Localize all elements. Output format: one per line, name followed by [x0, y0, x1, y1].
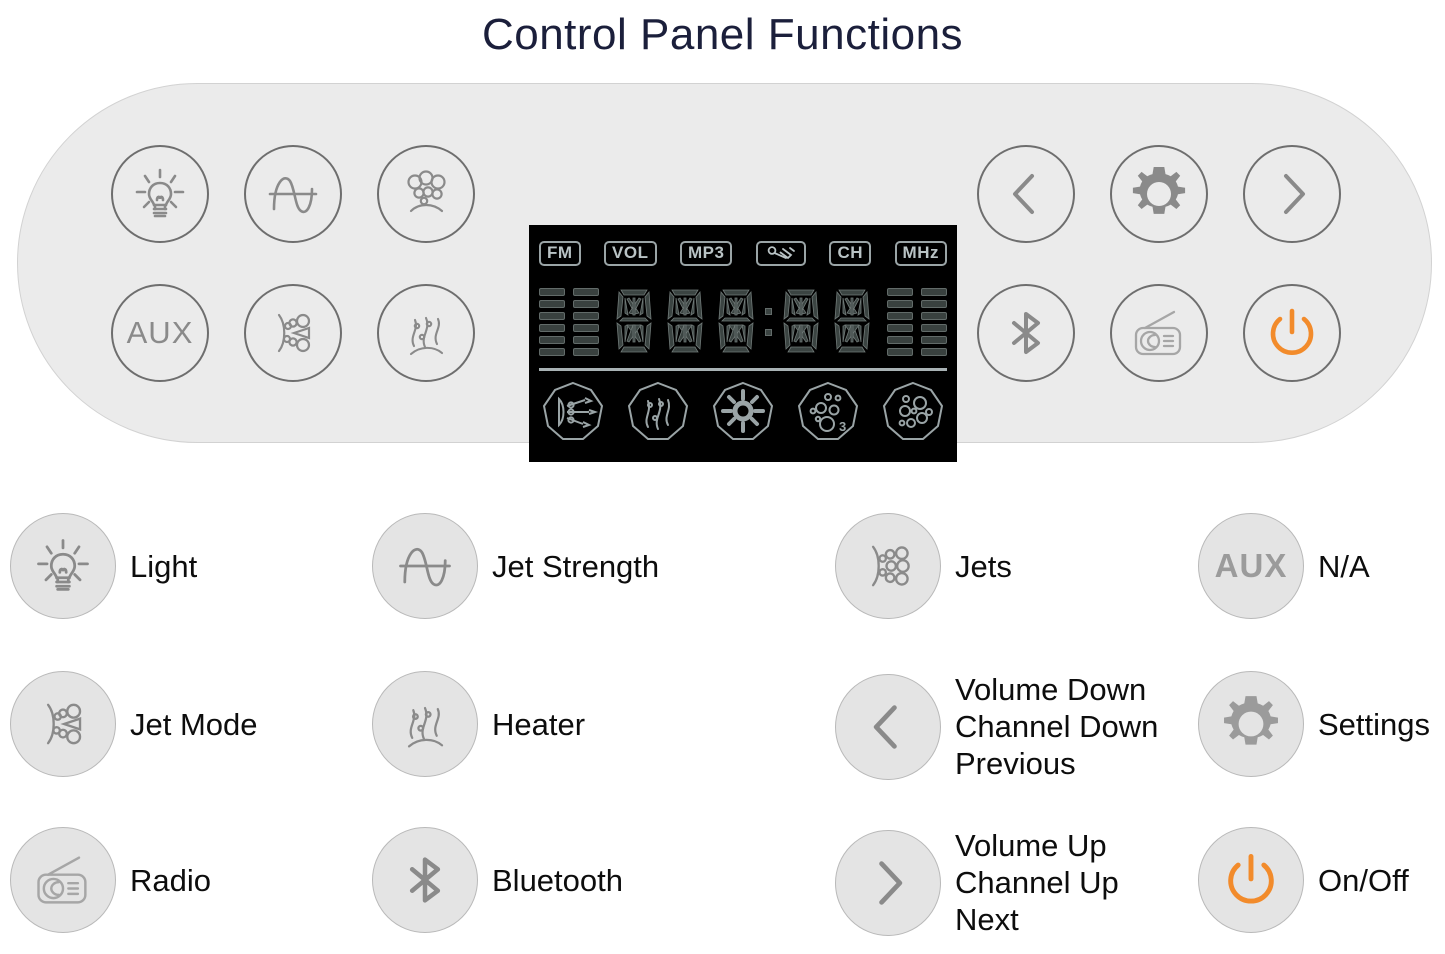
- chevron-left-icon: [835, 674, 941, 780]
- page-title: Control Panel Functions: [0, 10, 1445, 60]
- panel-button-heater[interactable]: [377, 284, 475, 382]
- legend-jets-icon: [835, 513, 941, 619]
- bar-segment: [887, 300, 913, 308]
- jet-strength-icon: [262, 163, 324, 225]
- jets-bubbles-icon: [395, 163, 457, 225]
- panel-button-bluetooth[interactable]: [977, 284, 1075, 382]
- lcd-ozone-icon: 3: [796, 380, 860, 449]
- bar-column: [539, 288, 565, 356]
- legend-label: Settings: [1318, 706, 1430, 743]
- lcd-display: FM VOL MP3 CH MHz: [529, 225, 957, 462]
- control-panel: AUX FM VOL MP3: [17, 83, 1432, 443]
- bar-segment: [539, 288, 565, 296]
- lcd-tag-mp3: MP3: [680, 241, 732, 266]
- bar-segment: [573, 312, 599, 320]
- bar-segment: [539, 336, 565, 344]
- lcd-light-icon: [711, 380, 775, 449]
- radio-icon: [10, 827, 116, 933]
- aux-label: AUX: [1215, 547, 1288, 585]
- bluetooth-icon: [998, 305, 1054, 361]
- bar-segment: [539, 324, 565, 332]
- aux-text-icon: AUX: [1198, 513, 1304, 619]
- heater-icon: [372, 671, 478, 777]
- bar-segment: [887, 324, 913, 332]
- panel-button-power[interactable]: [1243, 284, 1341, 382]
- legend-item-light[interactable]: Light: [10, 513, 197, 619]
- filter-wrench-icon: [764, 245, 798, 264]
- lcd-digit: [714, 287, 758, 358]
- heater-icon: [395, 302, 457, 364]
- bar-segment: [573, 336, 599, 344]
- bar-segment: [887, 348, 913, 356]
- bar-segment: [887, 288, 913, 296]
- legend-row: Light Jet Strength Jets: [0, 513, 1445, 623]
- legend-label: On/Off: [1318, 862, 1409, 899]
- bar-column: [921, 288, 947, 356]
- legend-item-heater[interactable]: Heater: [372, 671, 585, 777]
- panel-button-radio[interactable]: [1110, 284, 1208, 382]
- lcd-tag-mhz: MHz: [895, 241, 947, 266]
- legend-row: Jet Mode Heater Volume Down Channel: [0, 671, 1445, 781]
- light-bulb-icon: [10, 513, 116, 619]
- panel-button-next[interactable]: [1243, 145, 1341, 243]
- lcd-status-icons: 3: [541, 380, 945, 448]
- aux-text-icon: AUX: [127, 315, 194, 351]
- legend-label: Heater: [492, 706, 585, 743]
- lcd-colon: [765, 294, 772, 350]
- legend-label: Volume Down Channel Down Previous: [955, 671, 1158, 782]
- legend-item-volume-down[interactable]: Volume Down Channel Down Previous: [835, 671, 1158, 782]
- bar-segment: [887, 312, 913, 320]
- legend-label: Bluetooth: [492, 862, 623, 899]
- jet-strength-icon: [372, 513, 478, 619]
- legend-item-on-off[interactable]: On/Off: [1198, 827, 1409, 933]
- bar-segment: [887, 336, 913, 344]
- bar-segment: [573, 348, 599, 356]
- legend-label: N/A: [1318, 548, 1370, 585]
- jet-mode-icon: [10, 671, 116, 777]
- radio-icon: [1128, 302, 1190, 364]
- legend-item-jet-strength[interactable]: Jet Strength: [372, 513, 659, 619]
- legend-label: Light: [130, 548, 197, 585]
- bar-segment: [573, 300, 599, 308]
- bar-segment: [921, 300, 947, 308]
- lcd-top-indicators: FM VOL MP3 CH MHz: [539, 238, 947, 268]
- lcd-digit: [779, 287, 823, 358]
- lcd-left-bar-indicator: [539, 288, 599, 356]
- panel-button-jet-mode[interactable]: [244, 284, 342, 382]
- lcd-digit: [830, 287, 874, 358]
- power-icon: [1198, 827, 1304, 933]
- lcd-digit: [663, 287, 707, 358]
- gear-icon: [1198, 671, 1304, 777]
- bluetooth-icon: [372, 827, 478, 933]
- panel-button-jet-strength[interactable]: [244, 145, 342, 243]
- legend-label: Radio: [130, 862, 211, 899]
- lcd-tag-ch: CH: [829, 241, 871, 266]
- lcd-jets-icon: [881, 380, 945, 449]
- bar-segment: [539, 348, 565, 356]
- lcd-tag-fm: FM: [539, 241, 581, 266]
- legend-item-jets[interactable]: Jets: [835, 513, 1012, 619]
- panel-button-aux[interactable]: AUX: [111, 284, 209, 382]
- gear-icon: [1129, 164, 1189, 224]
- bar-segment: [539, 312, 565, 320]
- power-icon: [1263, 304, 1321, 362]
- legend-label: Volume Up Channel Up Next: [955, 827, 1119, 938]
- lcd-digit-group: [612, 287, 874, 358]
- bar-segment: [573, 288, 599, 296]
- lcd-heater-icon: [626, 380, 690, 449]
- light-bulb-icon: [129, 163, 191, 225]
- panel-button-previous[interactable]: [977, 145, 1075, 243]
- legend-item-radio[interactable]: Radio: [10, 827, 211, 933]
- legend-item-aux[interactable]: AUX N/A: [1198, 513, 1370, 619]
- bar-column: [573, 288, 599, 356]
- bar-segment: [573, 324, 599, 332]
- lcd-tag-vol: VOL: [604, 241, 656, 266]
- bar-column: [887, 288, 913, 356]
- legend-label: Jets: [955, 548, 1012, 585]
- bar-segment: [539, 300, 565, 308]
- chevron-right-icon: [1265, 167, 1319, 221]
- jet-mode-icon: [262, 302, 324, 364]
- lcd-digit: [612, 287, 656, 358]
- bar-segment: [921, 348, 947, 356]
- legend-row: Radio Bluetooth Volume Up Channel Up Nex…: [0, 827, 1445, 937]
- chevron-left-icon: [999, 167, 1053, 221]
- legend-label: Jet Mode: [130, 706, 258, 743]
- bar-segment: [921, 312, 947, 320]
- legend: Light Jet Strength Jets: [0, 495, 1445, 954]
- legend-item-bluetooth[interactable]: Bluetooth: [372, 827, 623, 933]
- lcd-divider: [539, 368, 947, 371]
- panel-button-jets[interactable]: [377, 145, 475, 243]
- lcd-tag-filter: [756, 241, 806, 266]
- bar-segment: [921, 336, 947, 344]
- legend-item-jet-mode[interactable]: Jet Mode: [10, 671, 258, 777]
- panel-button-light[interactable]: [111, 145, 209, 243]
- bar-segment: [921, 324, 947, 332]
- legend-item-settings[interactable]: Settings: [1198, 671, 1430, 777]
- lcd-jet-mode-icon: [541, 380, 605, 449]
- lcd-value-row: [539, 283, 947, 361]
- panel-button-settings[interactable]: [1110, 145, 1208, 243]
- lcd-right-bar-indicator: [887, 288, 947, 356]
- chevron-right-icon: [835, 830, 941, 936]
- bar-segment: [921, 288, 947, 296]
- ozone-badge-3: 3: [839, 419, 846, 434]
- legend-item-volume-up[interactable]: Volume Up Channel Up Next: [835, 827, 1119, 938]
- legend-label: Jet Strength: [492, 548, 659, 585]
